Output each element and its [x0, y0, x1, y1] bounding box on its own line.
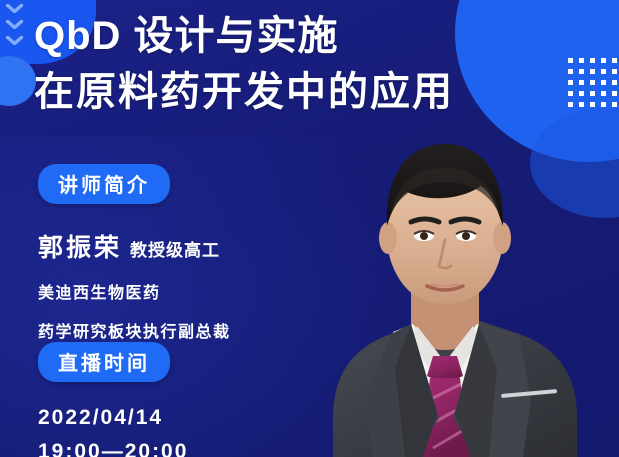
dot [601, 80, 606, 85]
speaker-name: 郭振荣 [38, 234, 122, 262]
dot [612, 102, 617, 107]
dot [612, 58, 617, 63]
speaker-name-row: 郭振荣教授级高工 [38, 228, 231, 264]
dot [601, 58, 606, 63]
chevron-down-icon [6, 20, 23, 29]
page-title: QbD 设计与实施 在原料药开发中的应用 [34, 8, 594, 120]
title-line-1: QbD 设计与实施 [34, 8, 594, 64]
schedule-badge: 直播时间 [38, 342, 170, 382]
chevron-stack [4, 2, 30, 58]
dot [612, 69, 617, 74]
speaker-badge: 讲师简介 [38, 164, 170, 204]
dot [612, 80, 617, 85]
schedule-date: 2022/04/14 [38, 406, 188, 430]
webinar-poster: QbD 设计与实施 在原料药开发中的应用 讲师简介 郭振荣教授级高工 美迪西生物… [0, 0, 619, 457]
speaker-title: 教授级高工 [130, 241, 220, 260]
schedule-time-range: 19:00—20:00 [38, 440, 188, 457]
schedule-section: 直播时间 2022/04/14 19:00—20:00 [38, 342, 188, 457]
dot [601, 69, 606, 74]
dot [612, 91, 617, 96]
speaker-role: 药学研究板块执行副总裁 [38, 318, 231, 342]
dot [601, 102, 606, 107]
title-line-2: 在原料药开发中的应用 [34, 64, 594, 120]
chevron-down-icon [6, 36, 23, 45]
speaker-portrait [205, 118, 605, 457]
speaker-organization: 美迪西生物医药 [38, 279, 231, 303]
chevron-down-icon [6, 4, 23, 13]
speaker-section: 讲师简介 郭振荣教授级高工 美迪西生物医药 药学研究板块执行副总裁 [38, 164, 231, 342]
dot [601, 91, 606, 96]
